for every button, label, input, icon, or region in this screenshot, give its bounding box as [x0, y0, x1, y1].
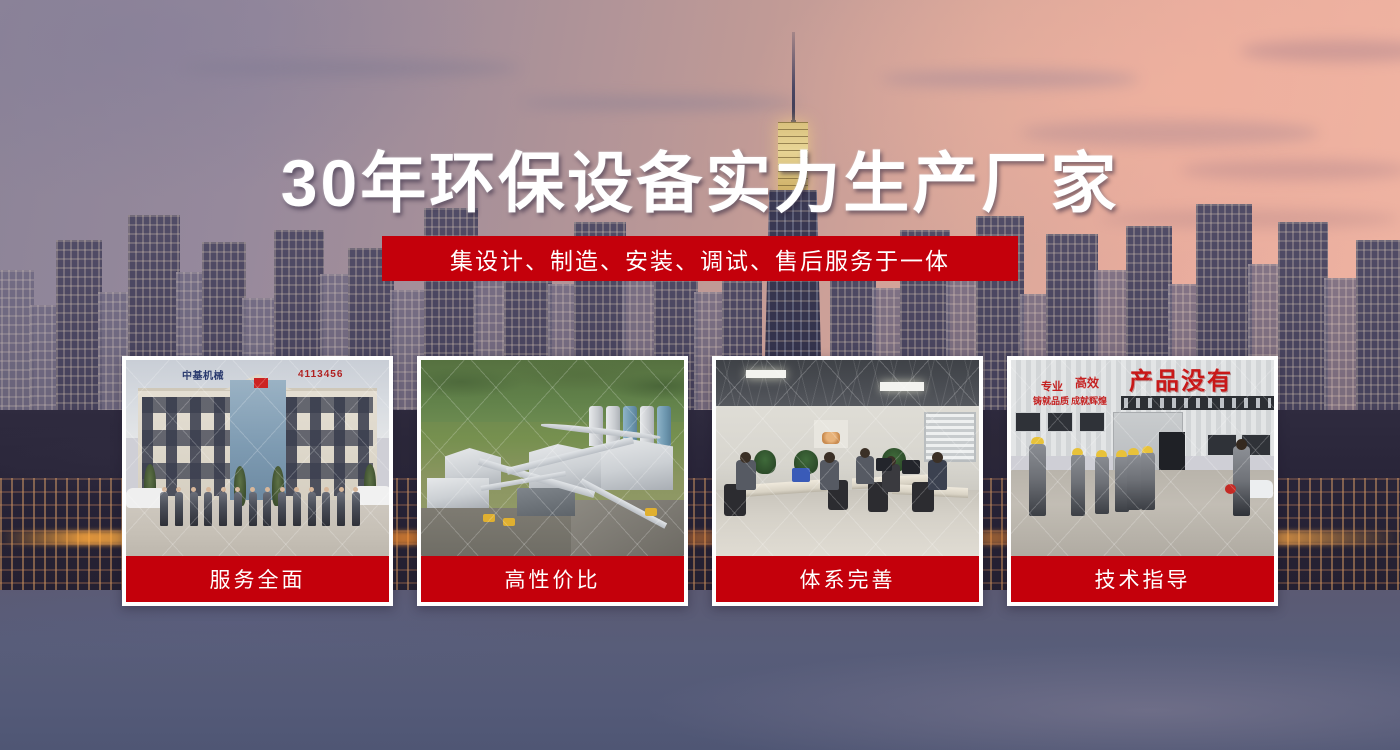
- subtitle-text: 集设计、制造、安装、调试、售后服务于一体: [450, 242, 950, 276]
- subtitle-banner: 集设计、制造、安装、调试、售后服务于一体: [382, 236, 1018, 281]
- red-helmet-icon: [1225, 484, 1236, 494]
- factory-slogan-1: 专业: [1041, 378, 1063, 394]
- factory-slogan-3: 铸就品质: [1033, 394, 1069, 407]
- feature-card[interactable]: 产品没有 专业 高效 铸就品质 成就辉煌: [1007, 356, 1278, 606]
- feature-card[interactable]: 中基机械 4113456: [122, 356, 393, 606]
- card-photo-factory-workers: 产品没有 专业 高效 铸就品质 成就辉煌: [1011, 360, 1274, 556]
- card-caption: 技术指导: [1011, 556, 1274, 602]
- building-phone-text: 4113456: [298, 368, 382, 381]
- page-title: 30年环保设备实力生产厂家: [0, 130, 1400, 226]
- factory-sign-text: 产品没有: [1129, 362, 1274, 394]
- feature-card[interactable]: 高性价比: [417, 356, 688, 606]
- feature-card[interactable]: 体系完善: [712, 356, 983, 606]
- card-caption: 服务全面: [126, 556, 389, 602]
- hero-banner: 30年环保设备实力生产厂家 集设计、制造、安装、调试、售后服务于一体 中基机械 …: [0, 0, 1400, 750]
- factory-slogan-4: 成就辉煌: [1071, 394, 1107, 407]
- building-sign-text: 中基机械: [182, 368, 292, 381]
- factory-doorway: [1159, 432, 1185, 472]
- card-caption: 体系完善: [716, 556, 979, 602]
- feature-card-list: 中基机械 4113456: [122, 356, 1278, 606]
- tower-antenna: [792, 32, 795, 124]
- card-photo-industrial-plant: [421, 360, 684, 556]
- card-photo-office-interior: [716, 360, 979, 556]
- factory-slogan-2: 高效: [1075, 374, 1099, 391]
- staff-row: [160, 484, 360, 526]
- card-caption: 高性价比: [421, 556, 684, 602]
- card-photo-office-building: 中基机械 4113456: [126, 360, 389, 556]
- wall-art: [814, 420, 848, 448]
- water-reflection: [0, 590, 1400, 750]
